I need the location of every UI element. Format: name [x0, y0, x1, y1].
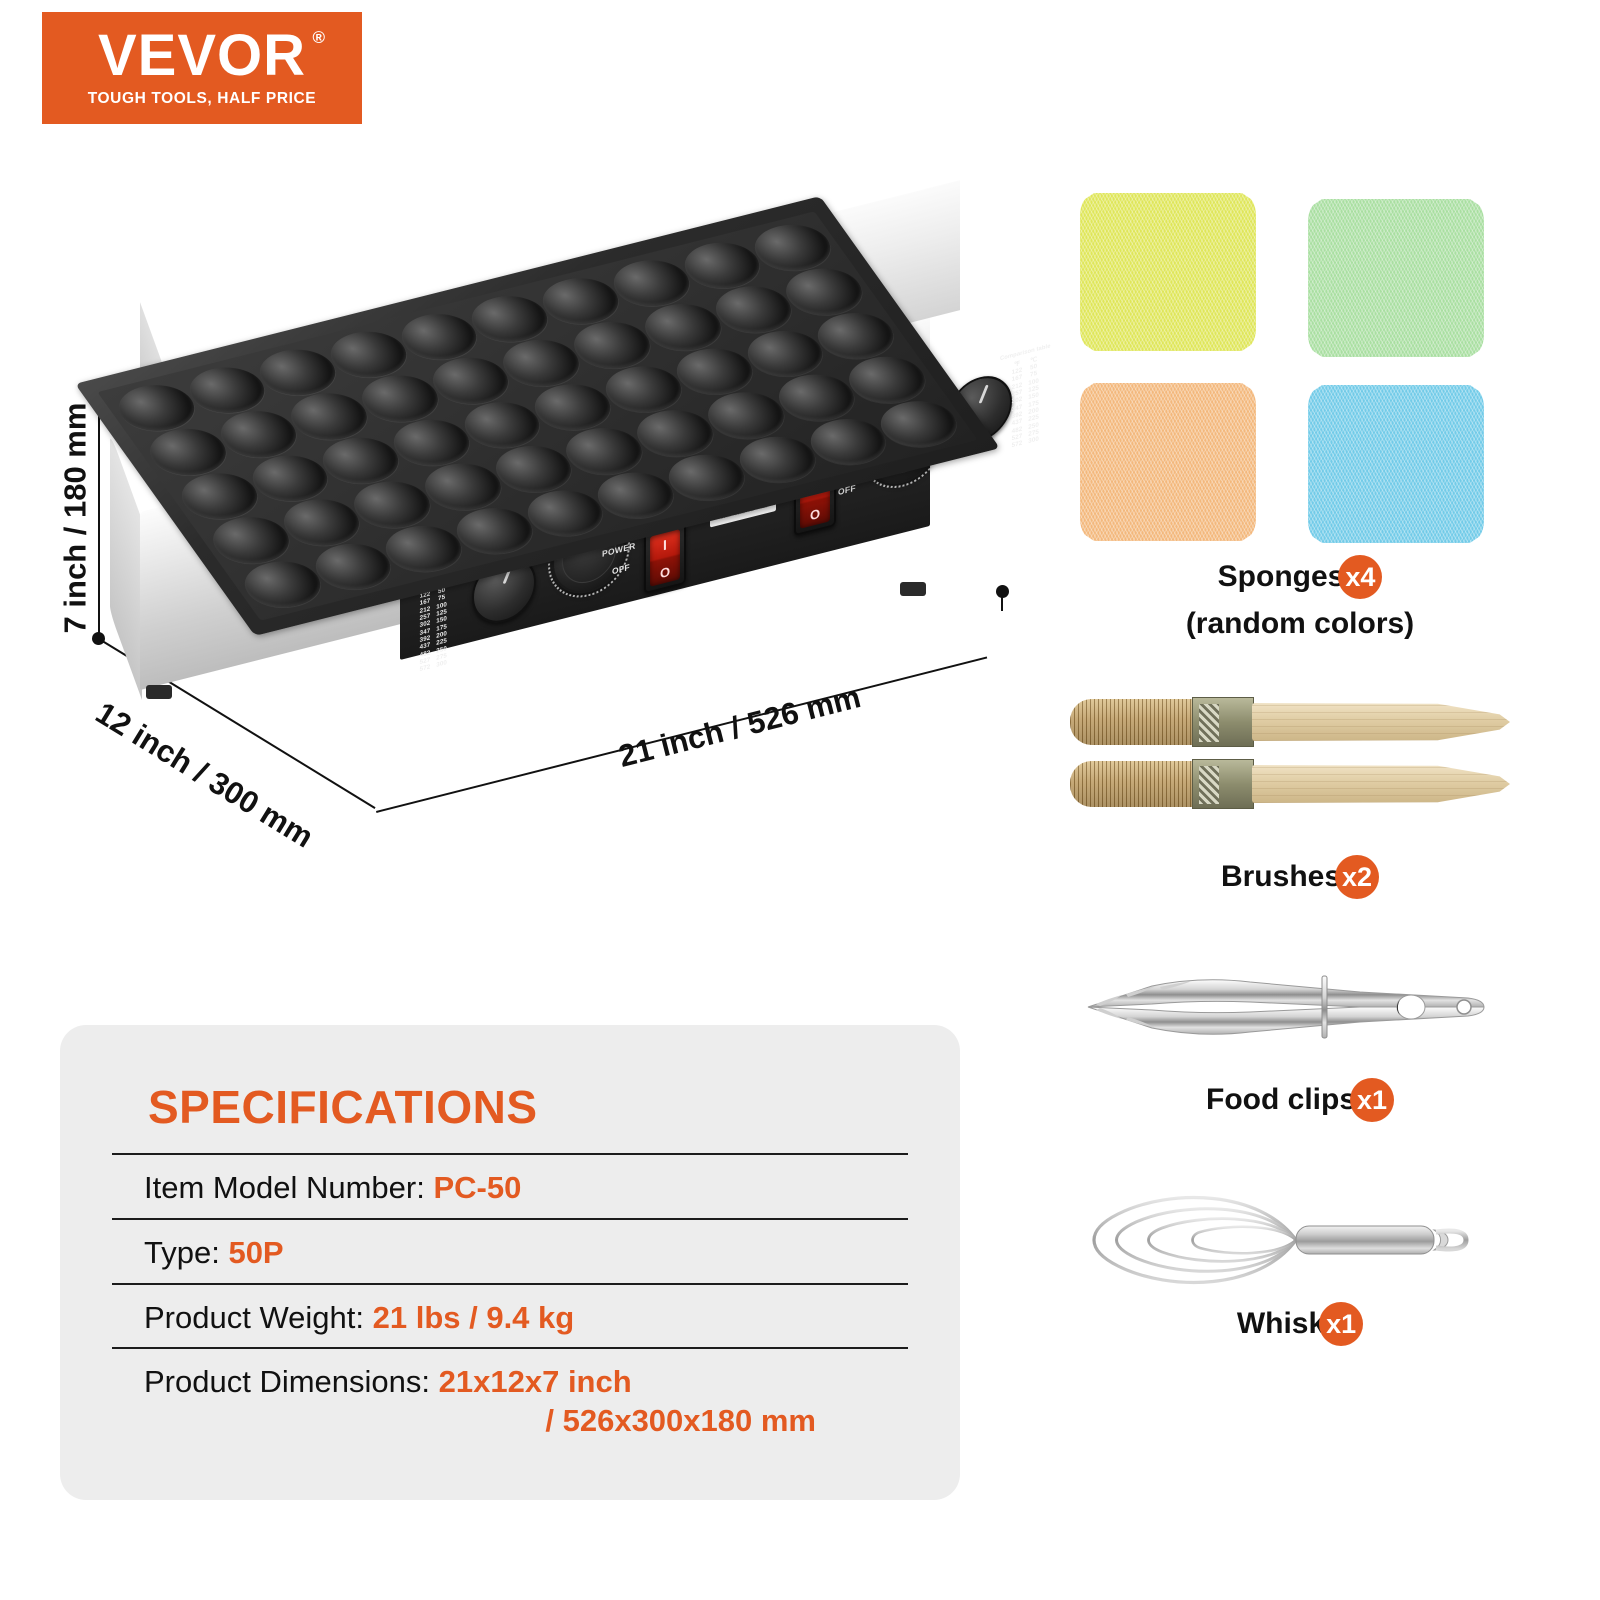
brushes-label-row: Brushes x2	[1070, 855, 1530, 899]
spec-line: Product Dimensions: 21x12x7 inch	[144, 1363, 908, 1402]
spec-line: Product Weight: 21 lbs / 9.4 kg	[144, 1299, 908, 1338]
spec-value-weight: 21 lbs / 9.4 kg	[373, 1300, 575, 1335]
registered-trademark-icon: ®	[313, 30, 327, 46]
brush-ferrule	[1192, 759, 1254, 809]
logo-wordmark: VEVOR ®	[98, 28, 306, 83]
spec-label-dimensions: Product Dimensions:	[144, 1364, 430, 1399]
spec-row-dimensions: Product Dimensions: 21x12x7 inch / 526x3…	[112, 1347, 908, 1451]
mold-grid	[97, 211, 977, 620]
sponges-label: Sponges	[1218, 560, 1345, 594]
tongs-illustration	[1060, 960, 1500, 1050]
accessory-whisk: Whisk x1	[1060, 1180, 1540, 1360]
sponges-label-row: Sponges x4	[1060, 555, 1540, 599]
brush-handle	[1252, 765, 1510, 803]
brush-item	[1070, 757, 1510, 811]
temp-c: 300	[1028, 436, 1039, 446]
whisk-label-row: Whisk x1	[1060, 1302, 1540, 1346]
spec-label-model: Item Model Number:	[144, 1170, 425, 1205]
comparison-fahrenheit-column: ℉ 122 167 212 257 302 347 392 437 482 52…	[1012, 359, 1023, 449]
brush-bristles	[1070, 699, 1198, 745]
accessory-brushes: Brushes x2	[1070, 695, 1530, 915]
brushes-qty-badge: x2	[1335, 855, 1379, 899]
comparison-table-right: Comparison table ℉ 122 167 212 257 302 3…	[1000, 343, 1051, 452]
food-clips-qty-badge: x1	[1350, 1078, 1394, 1122]
spec-row-model: Item Model Number: PC-50	[112, 1153, 908, 1218]
spec-value-dimensions-inch: 21x12x7 inch	[439, 1364, 632, 1399]
machine-foot	[900, 582, 926, 596]
sponges-note: (random colors)	[1060, 607, 1540, 641]
spec-value-model: PC-50	[433, 1170, 521, 1205]
machine-foot	[146, 685, 172, 699]
whisk-label: Whisk	[1237, 1307, 1325, 1341]
spec-line: Type: 50P	[144, 1234, 908, 1273]
specifications-card: SPECIFICATIONS Item Model Number: PC-50 …	[60, 1025, 960, 1500]
accessory-food-clips: Food clips x1	[1060, 960, 1540, 1130]
spec-label-weight: Product Weight:	[144, 1300, 364, 1335]
specifications-title: SPECIFICATIONS	[148, 1080, 538, 1134]
sponge-blue	[1308, 385, 1484, 543]
sponges-qty-badge: x4	[1338, 555, 1382, 599]
spec-value-dimensions-mm: / 526x300x180 mm	[545, 1403, 816, 1438]
spec-row-type: Type: 50P	[112, 1218, 908, 1283]
product-infographic: VEVOR ® TOUGH TOOLS, HALF PRICE 7 inch /…	[0, 0, 1600, 1600]
height-dimension-line	[98, 390, 100, 638]
spec-label-type: Type:	[144, 1235, 220, 1270]
food-clips-label-row: Food clips x1	[1060, 1078, 1540, 1122]
pancake-maker-machine: Comparison table ℉ 122 167 212 257 302 3…	[110, 230, 1010, 800]
brush-ferrule	[1192, 697, 1254, 747]
power-switch-rocker-left[interactable]	[650, 529, 680, 587]
sponge-green	[1308, 199, 1484, 357]
logo-tagline: TOUGH TOOLS, HALF PRICE	[88, 90, 317, 108]
temp-f: 572	[420, 664, 431, 674]
brushes-label: Brushes	[1221, 860, 1341, 894]
whisk-illustration	[1060, 1180, 1500, 1300]
comparison-fahrenheit-column: ℉ 122 167 212 257 302 347 392 437 482 52…	[420, 583, 431, 673]
comparison-celsius-column: ℃ 50 75 100 125 150 175 200 225 250 275 …	[1028, 355, 1039, 445]
accessory-sponges: Sponges x4 (random colors)	[1060, 185, 1540, 645]
spec-row-weight: Product Weight: 21 lbs / 9.4 kg	[112, 1283, 908, 1348]
specifications-rows: Item Model Number: PC-50 Type: 50P Produ…	[112, 1153, 908, 1451]
whisk-qty-badge: x1	[1319, 1302, 1363, 1346]
logo-word-text: VEVOR	[98, 23, 306, 88]
spec-value-type: 50P	[228, 1235, 283, 1270]
sponge-yellow	[1080, 193, 1256, 351]
brush-bristles	[1070, 761, 1198, 807]
food-clips-label: Food clips	[1206, 1083, 1356, 1117]
spec-line-secondary: / 526x300x180 mm	[144, 1402, 908, 1441]
spec-line: Item Model Number: PC-50	[144, 1169, 908, 1208]
brush-item	[1070, 695, 1510, 749]
vevor-logo: VEVOR ® TOUGH TOOLS, HALF PRICE	[42, 12, 362, 124]
product-photo-with-dimensions: 7 inch / 180 mm 12 inch / 300 mm 21 inch…	[0, 150, 1030, 890]
temp-c: 300	[436, 659, 447, 669]
brush-handle	[1252, 703, 1510, 741]
temp-f: 572	[1012, 440, 1023, 450]
height-dimension-label: 7 inch / 180 mm	[57, 403, 93, 634]
comparison-celsius-column: ℃ 50 75 100 125 150 175 200 225 250 275 …	[436, 579, 447, 669]
sponge-orange	[1080, 383, 1256, 541]
